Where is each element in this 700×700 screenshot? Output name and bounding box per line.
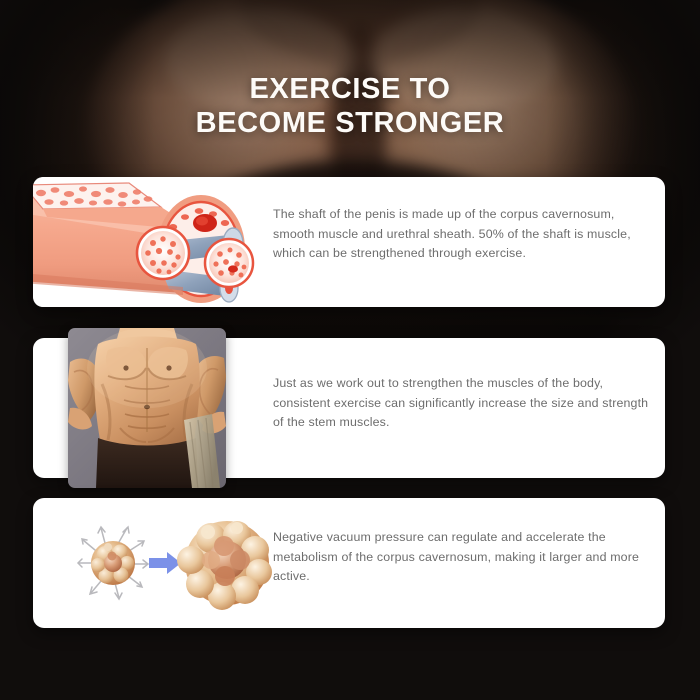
- card-2-text: Just as we work out to strengthen the mu…: [273, 374, 651, 433]
- card-3-media: [41, 502, 273, 624]
- title-line-2: BECOME STRONGER: [0, 106, 700, 140]
- card-1-media: [33, 177, 268, 307]
- muscular-male-torso-photo: [68, 328, 226, 488]
- page-title: EXERCISE TO BECOME STRONGER: [0, 72, 700, 140]
- penis-shaft-cross-section-illustration: [33, 177, 268, 307]
- card-3-text: Negative vacuum pressure can regulate an…: [273, 528, 651, 587]
- card-2-media: [68, 328, 226, 488]
- infographic-page: EXERCISE TO BECOME STRONGER: [0, 0, 700, 700]
- title-line-1: EXERCISE TO: [249, 73, 450, 105]
- card-1-text: The shaft of the penis is made up of the…: [273, 205, 651, 264]
- info-card-2: Just as we work out to strengthen the mu…: [33, 338, 665, 478]
- cell-cluster-growth-diagram: [41, 502, 273, 624]
- card-2-photo-frame: [68, 328, 226, 488]
- info-card-1: The shaft of the penis is made up of the…: [33, 177, 665, 307]
- info-card-3: Negative vacuum pressure can regulate an…: [33, 498, 665, 628]
